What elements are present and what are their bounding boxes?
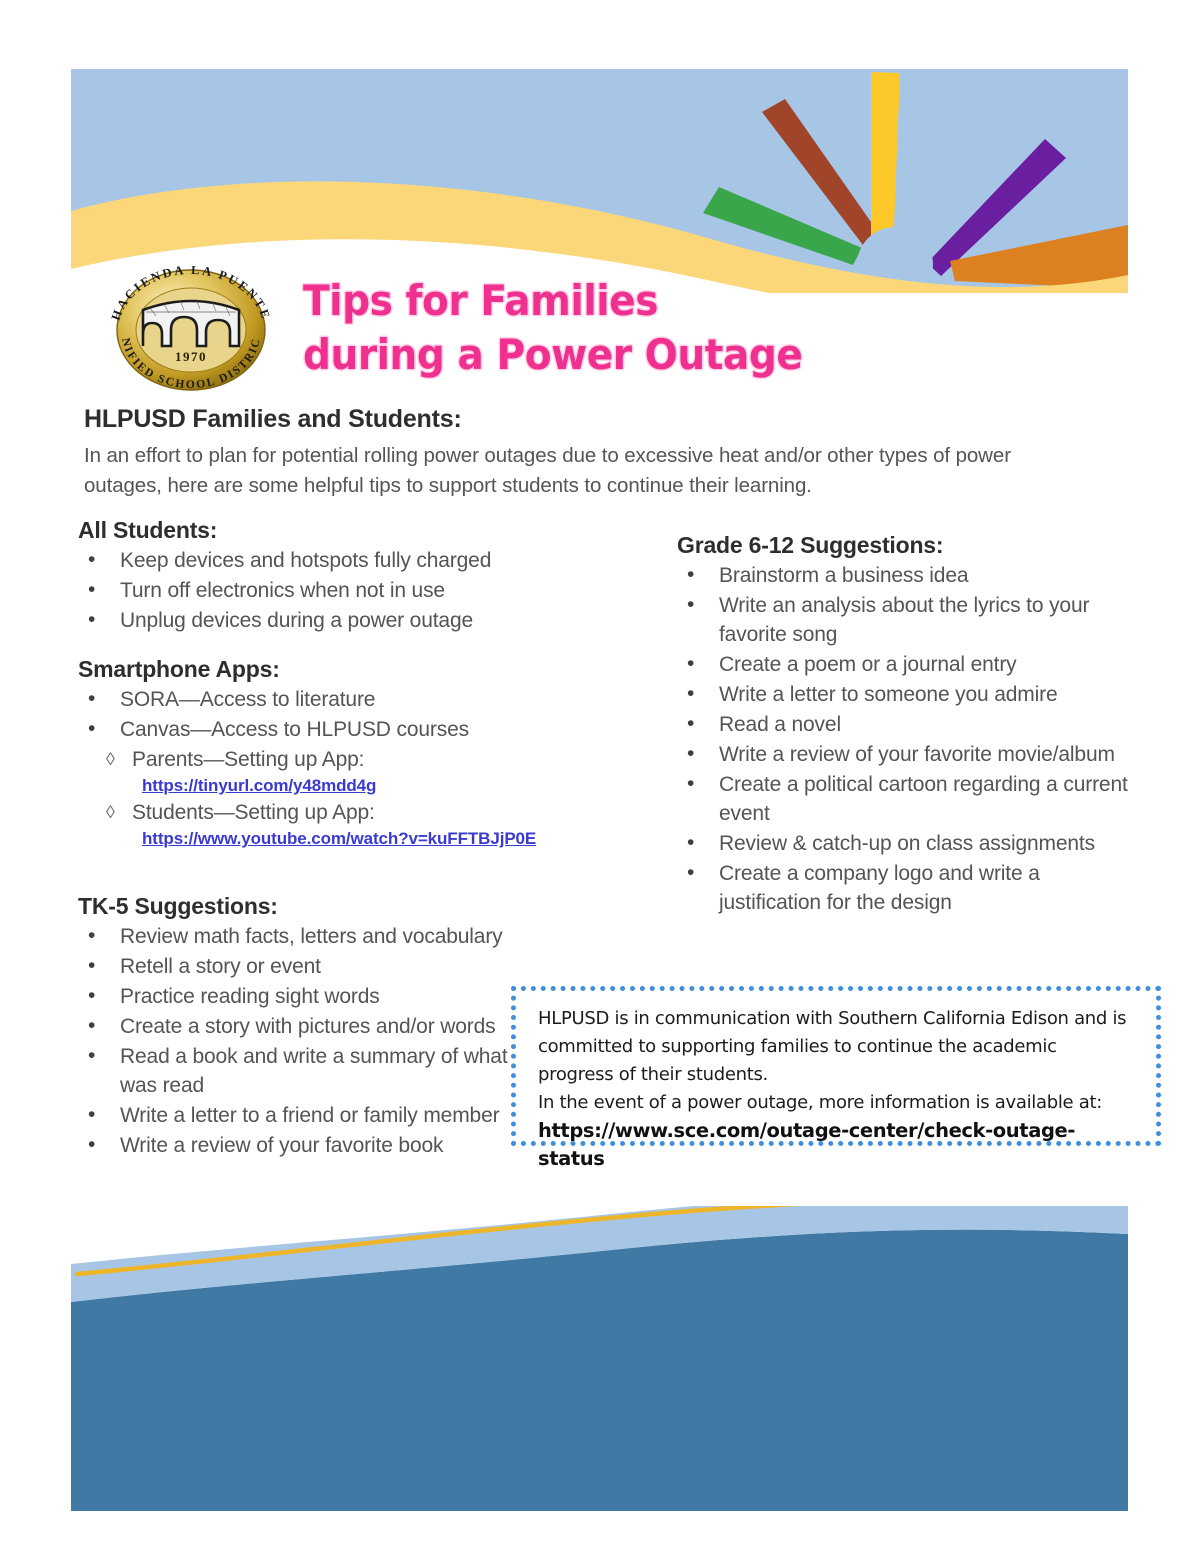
logo-year: 1970	[175, 349, 207, 364]
list-item: Create a poem or a journal entry	[677, 650, 1147, 679]
sublist-item-parents: Parents—Setting up App:	[106, 745, 548, 774]
sce-callout-box: HLPUSD is in communication with Southern…	[511, 986, 1161, 1146]
tk5-heading: TK-5 Suggestions:	[78, 893, 548, 920]
footer-waves	[71, 1206, 1128, 1511]
left-column: All Students: Keep devices and hotspots …	[78, 517, 548, 1161]
list-item: Create a political cartoon regarding a c…	[677, 770, 1147, 828]
parents-setup-link[interactable]: https://tinyurl.com/y48mdd4g	[106, 774, 548, 798]
list-item: Practice reading sight words	[78, 982, 548, 1011]
sce-outage-status-link[interactable]: https://www.sce.com/outage-center/check-…	[538, 1117, 1136, 1173]
intro-body: In an effort to plan for potential rolli…	[84, 441, 1094, 501]
list-item: Create a story with pictures and/or word…	[78, 1012, 548, 1041]
spacer	[78, 636, 548, 656]
all-students-heading: All Students:	[78, 517, 548, 544]
list-item: Write a review of your favorite book	[78, 1131, 548, 1160]
sublist-item-students: Students—Setting up App:	[106, 798, 548, 827]
list-item: Write a letter to someone you admire	[677, 680, 1147, 709]
sce-callout-paragraph-2: In the event of a power outage, more inf…	[538, 1089, 1136, 1117]
list-item: Keep devices and hotspots fully charged	[78, 546, 548, 575]
list-item: Brainstorm a business idea	[677, 561, 1147, 590]
right-column: Grade 6-12 Suggestions: Brainstorm a bus…	[677, 532, 1147, 918]
list-item: Turn off electronics when not in use	[78, 576, 548, 605]
students-setup-link[interactable]: https://www.youtube.com/watch?v=kuFFTBJj…	[106, 827, 548, 851]
smartphone-apps-heading: Smartphone Apps:	[78, 656, 548, 683]
all-students-list: Keep devices and hotspots fully charged …	[78, 546, 548, 635]
smartphone-apps-sublist-wrap: Parents—Setting up App: https://tinyurl.…	[78, 745, 548, 851]
page-title: Tips for Families during a Power Outage	[303, 274, 973, 382]
smartphone-apps-sublist-2: Students—Setting up App:	[106, 798, 548, 827]
list-item: Review math facts, letters and vocabular…	[78, 922, 548, 951]
list-item: Write an analysis about the lyrics to yo…	[677, 591, 1147, 649]
district-logo: HACIENDA LA PUENTE UNIFIED SCHOOL DISTRI…	[96, 266, 286, 394]
sce-callout-content: HLPUSD is in communication with Southern…	[516, 991, 1156, 1183]
list-item: Review & catch-up on class assignments	[677, 829, 1147, 858]
spacer	[78, 851, 548, 893]
smartphone-apps-list: SORA—Access to literature Canvas—Access …	[78, 685, 548, 744]
smartphone-apps-sublist: Parents—Setting up App:	[106, 745, 548, 774]
list-item: Read a book and write a summary of what …	[78, 1042, 548, 1100]
intro-heading: HLPUSD Families and Students:	[84, 405, 462, 434]
list-item: Read a novel	[677, 710, 1147, 739]
sce-callout-paragraph-1: HLPUSD is in communication with Southern…	[538, 1005, 1136, 1089]
list-item: SORA—Access to literature	[78, 685, 548, 714]
list-item: Create a company logo and write a justif…	[677, 859, 1147, 917]
grade-6-12-list: Brainstorm a business idea Write an anal…	[677, 561, 1147, 917]
grade-6-12-heading: Grade 6-12 Suggestions:	[677, 532, 1147, 559]
list-item: Write a letter to a friend or family mem…	[78, 1101, 548, 1130]
flyer-page: HACIENDA LA PUENTE UNIFIED SCHOOL DISTRI…	[0, 0, 1200, 1553]
list-item: Canvas—Access to HLPUSD courses	[78, 715, 548, 744]
list-item: Unplug devices during a power outage	[78, 606, 548, 635]
list-item: Retell a story or event	[78, 952, 548, 981]
list-item: Write a review of your favorite movie/al…	[677, 740, 1147, 769]
tk5-list: Review math facts, letters and vocabular…	[78, 922, 548, 1160]
header-banner	[71, 69, 1128, 293]
